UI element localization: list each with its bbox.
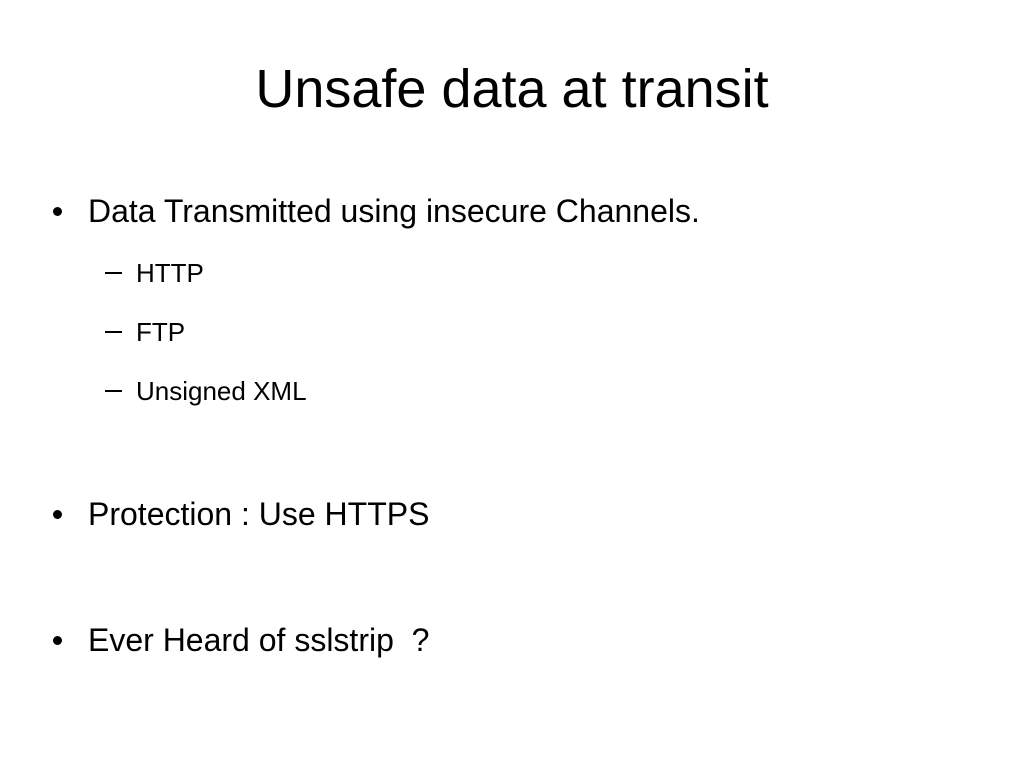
blank-line [48, 547, 978, 609]
list-item-label: FTP [136, 303, 1024, 362]
list-item: Ever Heard of sslstrip ? [48, 609, 978, 673]
list-item-label: HTTP [136, 244, 1024, 303]
list-item: HTTP [48, 244, 1024, 303]
list-item-label: Unsigned XML [136, 362, 1024, 421]
page-title: Unsafe data at transit [0, 58, 1024, 120]
list-item: FTP [48, 303, 1024, 362]
blank-line [48, 421, 978, 483]
slide-body: Data Transmitted using insecure Channels… [48, 180, 978, 673]
list-item: Unsigned XML [48, 362, 1024, 421]
list-item-label: Data Transmitted using insecure Channels… [88, 180, 978, 242]
list-item: Protection : Use HTTPS [48, 483, 978, 547]
bullet-dot-icon [48, 182, 88, 244]
dash-bullet-icon [105, 362, 136, 421]
dash-bullet-icon [105, 303, 136, 362]
presentation-slide: Unsafe data at transit Data Transmitted … [0, 0, 1024, 768]
list-item-label: Ever Heard of sslstrip ? [88, 609, 978, 671]
list-item-label: Protection : Use HTTPS [88, 483, 978, 545]
bullet-dot-icon [48, 485, 88, 547]
list-item: Data Transmitted using insecure Channels… [48, 180, 978, 244]
bullet-dot-icon [48, 611, 88, 673]
dash-bullet-icon [105, 244, 136, 303]
